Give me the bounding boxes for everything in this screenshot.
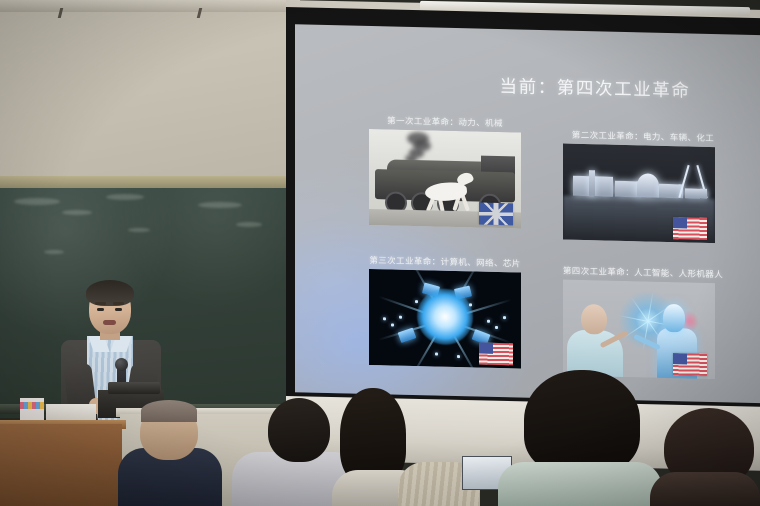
quadrant-label: 第四次工业革命：人工智能、人形机器人 [545, 264, 741, 281]
projection-screen: 当前：第四次工业革命 第一次工业革命：动力、机械 [286, 7, 760, 410]
wall-rail [0, 0, 300, 12]
flag-us-icon [673, 217, 707, 240]
slide-title: 当前：第四次工业革命 [445, 72, 745, 104]
quadrant-second-industrial-revolution: 第二次工业革命：电力、车辆、化工 [545, 128, 741, 251]
screen-surface: 当前：第四次工业革命 第一次工业革命：动力、机械 [295, 24, 760, 403]
wooden-lectern [0, 424, 122, 506]
flag-us-icon [673, 353, 707, 376]
mouth [103, 320, 116, 325]
presentation-slide: 当前：第四次工业革命 第一次工业革命：动力、机械 [295, 24, 760, 403]
quadrant-label: 第三次工业革命：计算机、网络、芯片 [361, 254, 529, 270]
flag-uk-icon [479, 203, 513, 226]
quadrant-label: 第二次工业革命：电力、车辆、化工 [545, 128, 741, 145]
microphone-head-icon [115, 358, 128, 371]
hair [86, 280, 134, 306]
desk-monitor [108, 382, 160, 394]
quadrant-third-industrial-revolution: 第三次工业革命：计算机、网络、芯片 [361, 254, 529, 376]
tissue-box-pattern [20, 402, 44, 409]
classroom-wall [0, 0, 300, 200]
quadrant-fourth-industrial-revolution: 第四次工业革命：人工智能、人形机器人 [545, 264, 741, 387]
flag-us-icon [479, 343, 513, 366]
quadrant-label: 第一次工业革命：动力、机械 [361, 114, 529, 130]
lecture-hall-photo: 当前：第四次工业革命 第一次工业革命：动力、机械 [0, 0, 760, 506]
papers-stack [46, 404, 96, 420]
quadrant-first-industrial-revolution: 第一次工业革命：动力、机械 [361, 114, 529, 236]
